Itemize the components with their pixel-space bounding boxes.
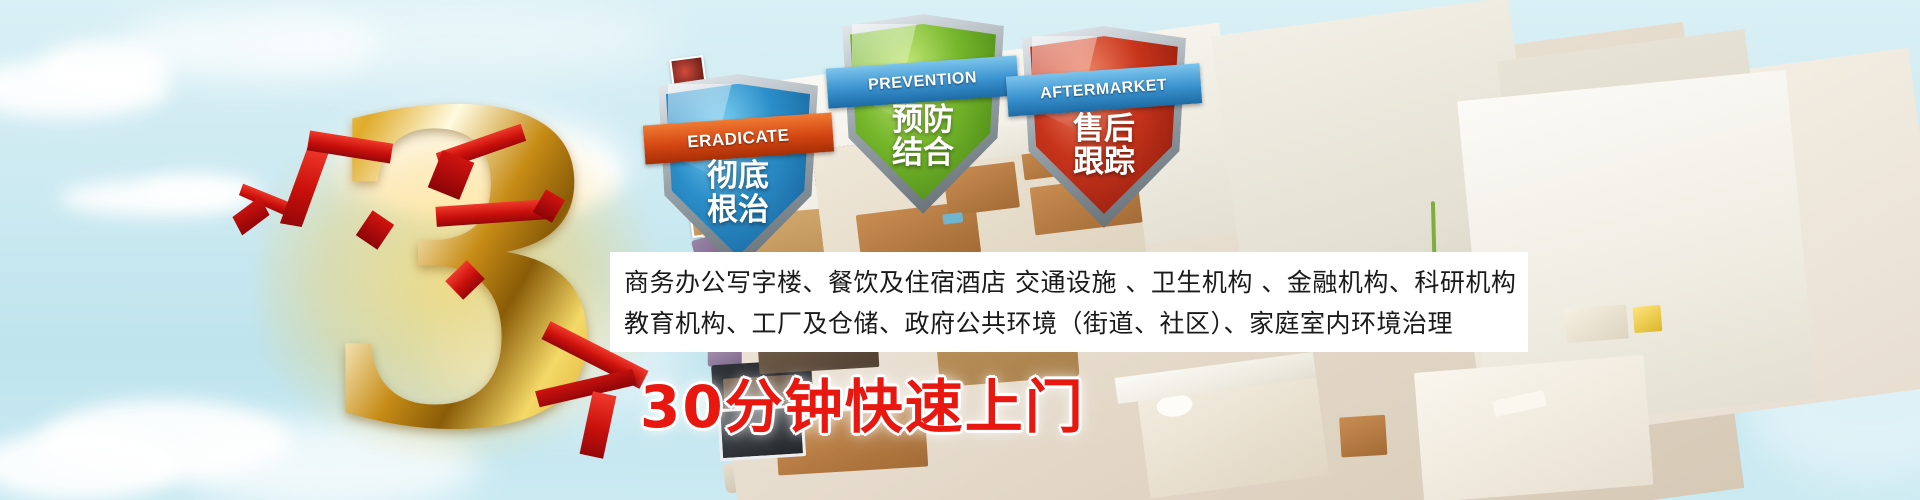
shield-cn-line2: 结合: [842, 137, 1004, 170]
shield-cn-text: 售后 跟踪: [1022, 113, 1186, 180]
shield-aftermarket[interactable]: AFTERMARKET 售后 跟踪: [1022, 26, 1186, 228]
promo-banner: ERADICATE 彻底 根治 PREVENTION 预防 结合 AFTERMA…: [0, 0, 1920, 500]
shield-cn-line1: 彻底: [658, 160, 818, 193]
shield-prevention[interactable]: PREVENTION 预防 结合: [842, 14, 1004, 214]
shield-cn-line1: 售后: [1022, 113, 1186, 146]
bed-tray-item: [1632, 305, 1662, 333]
headline-30min-fast-service: 30分钟快速上门: [640, 360, 1085, 444]
service-scope-line-2: 教育机构、工厂及仓储、政府公共环境（街道、社区）、家庭室内环境治理: [624, 303, 1528, 344]
shield-cn-text: 彻底 根治: [658, 160, 818, 227]
shield-cn-line2: 根治: [658, 194, 818, 227]
shield-cn-line1: 预防: [842, 104, 1004, 137]
bed-tray: [1564, 304, 1628, 343]
shield-cn-text: 预防 结合: [842, 104, 1004, 171]
bed-mattress: [1414, 355, 1653, 500]
service-scope-line-1: 商务办公写字楼、餐饮及住宿酒店 交通设施 、卫生机构 、金融机构、科研机构: [624, 262, 1528, 303]
shield-eradicate[interactable]: ERADICATE 彻底 根治: [658, 74, 818, 270]
shield-cn-line2: 跟踪: [1022, 146, 1186, 179]
shield-ribbon-label: AFTERMARKET: [1040, 77, 1168, 104]
shield-ribbon-label: ERADICATE: [686, 125, 790, 152]
service-scope-panel: 商务办公写字楼、餐饮及住宿酒店 交通设施 、卫生机构 、金融机构、科研机构 教育…: [610, 252, 1528, 352]
nightstand: [1339, 415, 1387, 458]
cloud-decoration: [0, 430, 180, 500]
shield-ribbon-label: PREVENTION: [868, 69, 978, 95]
